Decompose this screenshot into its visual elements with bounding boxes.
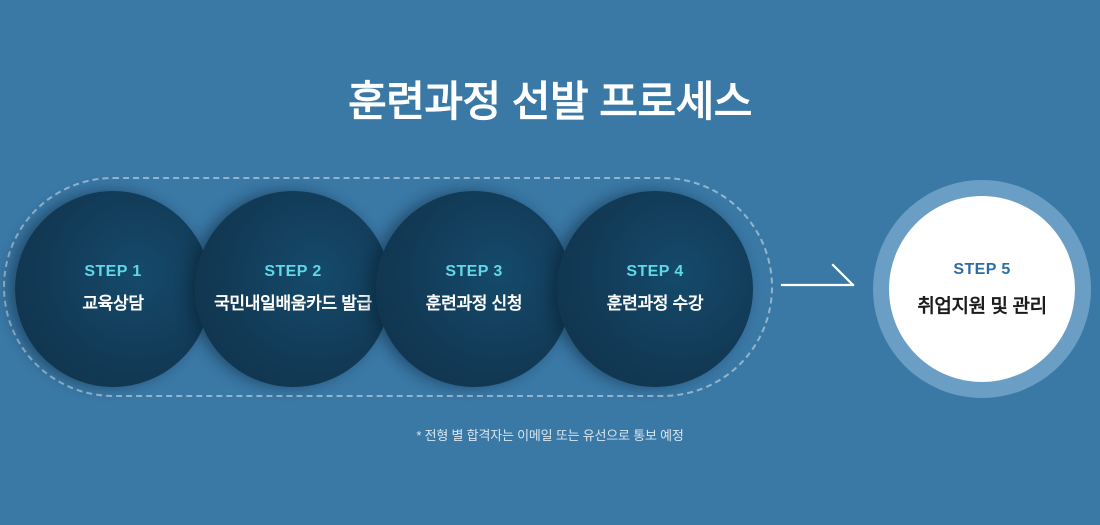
step-2-label: 국민내일배움카드 발급 (214, 293, 372, 316)
step-3-label: 훈련과정 신청 (426, 293, 522, 316)
step-1-number: STEP 1 (84, 263, 141, 281)
page-title: 훈련과정 선발 프로세스 (0, 78, 1100, 126)
step-1-label: 교육상담 (82, 293, 143, 316)
step-circle-2: STEP 2 국민내일배움카드 발급 (195, 191, 391, 387)
step-5-number: STEP 5 (953, 261, 1010, 279)
step-3-number: STEP 3 (445, 263, 502, 281)
arrow-right-icon (780, 258, 860, 292)
step-circle-4: STEP 4 훈련과정 수강 (557, 191, 753, 387)
step-circle-3: STEP 3 훈련과정 신청 (376, 191, 572, 387)
step-5-label: 취업지원 및 관리 (917, 291, 1046, 318)
step-4-number: STEP 4 (626, 263, 683, 281)
step-circle-5: STEP 5 취업지원 및 관리 (873, 180, 1091, 398)
process-infographic: 훈련과정 선발 프로세스 STEP 1 교육상담 STEP 2 국민내일배움카드… (0, 0, 1100, 525)
step-2-number: STEP 2 (264, 263, 321, 281)
step-5-inner-circle: STEP 5 취업지원 및 관리 (889, 196, 1075, 382)
step-circle-1: STEP 1 교육상담 (15, 191, 211, 387)
step-4-label: 훈련과정 수강 (607, 293, 703, 316)
footnote-text: * 전형 별 합격자는 이메일 또는 유선으로 통보 예정 (0, 425, 1100, 444)
